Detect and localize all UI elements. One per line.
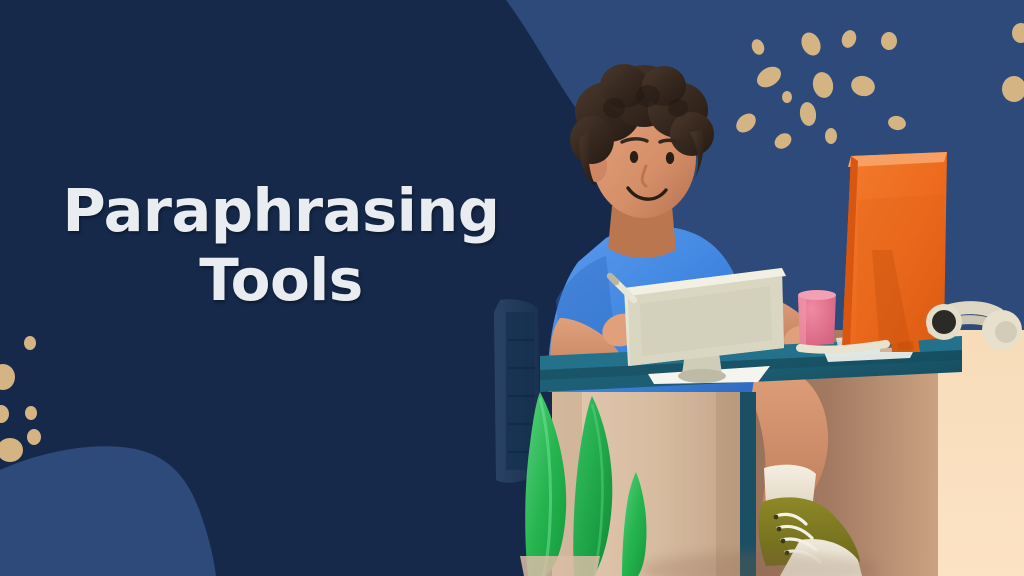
eye-left <box>630 151 638 163</box>
slide-canvas: Paraphrasing Tools <box>0 0 1024 576</box>
mug <box>798 290 836 346</box>
eye-right <box>666 152 674 164</box>
illustration <box>0 0 1024 576</box>
